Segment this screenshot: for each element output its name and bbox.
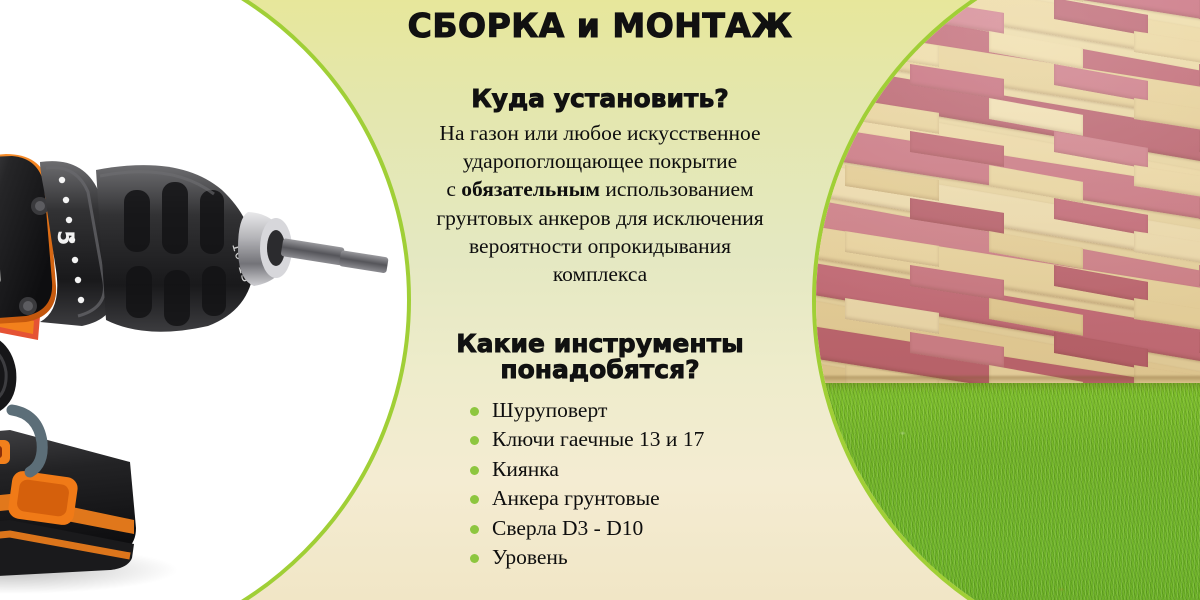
rubber-paving-tiles xyxy=(816,0,1200,388)
tool-list: Шуруповерт Ключи гаечные 13 и 17 Киянка … xyxy=(388,396,812,573)
install-line-1: На газон или любое искусственное xyxy=(439,121,760,145)
list-item: Шуруповерт xyxy=(470,396,812,425)
install-line-2: ударопоглощающее покрытие xyxy=(463,149,737,173)
tool-label: Уровень xyxy=(492,545,568,569)
cordless-drill-illustration: 5 10-13 xyxy=(0,58,426,600)
bullet-dot-icon xyxy=(470,525,479,534)
paving-grass-border xyxy=(816,376,1200,383)
tool-label: Шуруповерт xyxy=(492,398,607,422)
list-item: Сверла D3 - D10 xyxy=(470,514,812,543)
list-item: Ключи гаечные 13 и 17 xyxy=(470,425,812,454)
bullet-dot-icon xyxy=(470,466,479,475)
paving-lighting-overlay xyxy=(816,0,1200,388)
bullet-dot-icon xyxy=(470,436,479,445)
right-photo-circle xyxy=(812,0,1200,600)
section-where-to-install: Куда установить? На газон или любое иску… xyxy=(388,42,812,289)
list-item: Уровень xyxy=(470,543,812,572)
clutch-number-label: 5 xyxy=(52,230,77,245)
list-item: Киянка xyxy=(470,455,812,484)
poster: 5 10-13 СБОРКА и МОНТАЖ Куда установить? xyxy=(0,0,1200,600)
bullet-dot-icon xyxy=(470,495,479,504)
install-line-5: вероятности опрокидывания xyxy=(469,234,731,258)
tools-heading-line1: Какие инструменты xyxy=(456,329,744,358)
install-line-3-prefix: с xyxy=(446,177,461,201)
bullet-dot-icon xyxy=(470,554,479,563)
page-title: СБОРКА и МОНТАЖ xyxy=(388,0,812,42)
tools-heading-line2: понадобятся? xyxy=(500,355,699,384)
install-line-3-suffix: использованием xyxy=(600,177,754,201)
section-tools-needed: Какие инструменты понадобятся? Шуруповер… xyxy=(388,289,812,573)
list-item: Анкера грунтовые xyxy=(470,484,812,513)
tool-label: Ключи гаечные 13 и 17 xyxy=(492,427,704,451)
tool-label: Анкера грунтовые xyxy=(492,486,660,510)
section-heading-tools: Какие инструменты понадобятся? xyxy=(388,331,812,384)
install-line-6: комплекса xyxy=(553,262,647,286)
install-paragraph: На газон или любое искусственное ударопо… xyxy=(388,119,812,289)
lawn-grass xyxy=(816,383,1200,600)
install-bold-word: обязательным xyxy=(461,177,600,201)
tool-label: Киянка xyxy=(492,457,559,481)
tool-label: Сверла D3 - D10 xyxy=(492,516,643,540)
section-heading-where: Куда установить? xyxy=(388,86,812,113)
text-column: СБОРКА и МОНТАЖ Куда установить? На газо… xyxy=(388,0,812,600)
bullet-dot-icon xyxy=(470,407,479,416)
install-line-4: грунтовых анкеров для исключения xyxy=(436,206,763,230)
